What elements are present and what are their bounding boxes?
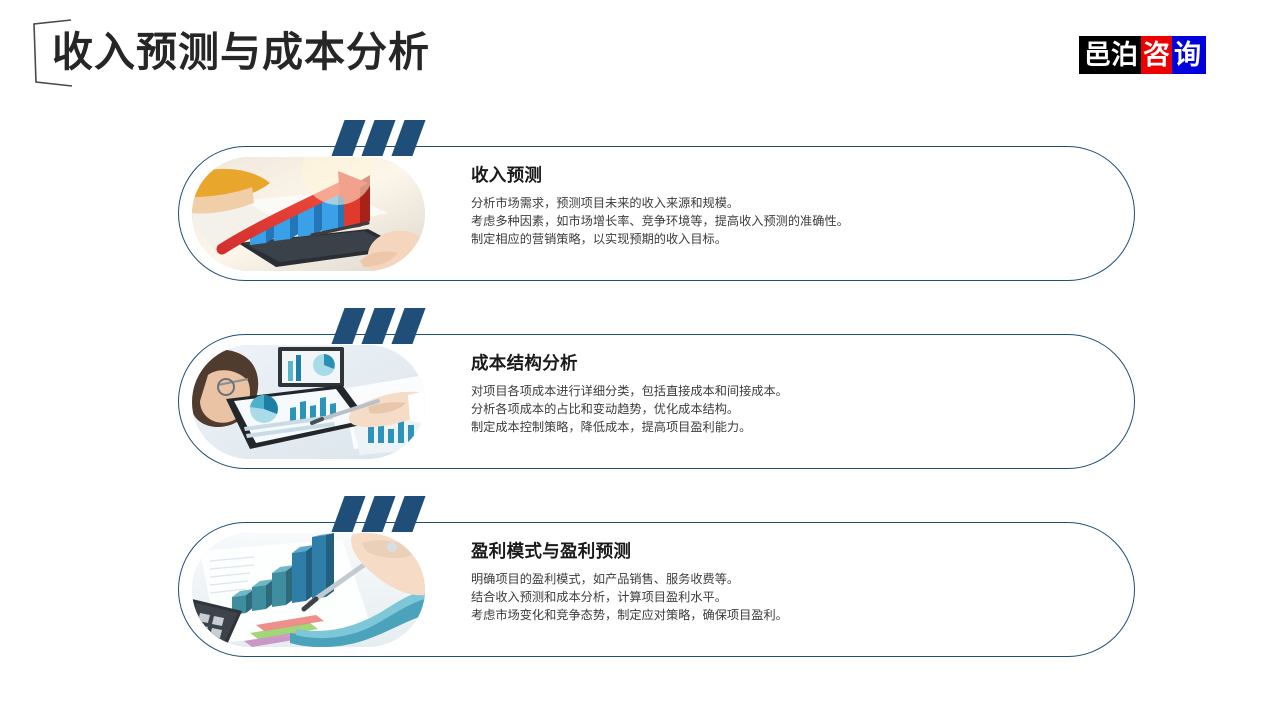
card-line: 考虑市场变化和竞争态势，制定应对策略，确保项目盈利。 [471, 607, 1094, 625]
card-photo-3 [192, 533, 425, 647]
card-heading: 盈利模式与盈利预测 [471, 543, 1094, 562]
stripe-bar [361, 120, 395, 156]
logo-segment-black: 邑泊 [1079, 36, 1141, 74]
stripe-bar [331, 120, 365, 156]
stripe-bar [391, 496, 425, 532]
stripe-bar [361, 496, 395, 532]
photo-red-arrow-bar-chart-meeting-icon [192, 157, 425, 271]
title-block: 收入预测与成本分析 [30, 14, 430, 90]
card-line: 分析市场需求，预测项目未来的收入来源和规模。 [471, 195, 1094, 213]
brand-logo: 邑泊 咨 询 [1079, 36, 1206, 74]
card-line: 分析各项成本的占比和变动趋势，优化成本结构。 [471, 401, 1094, 419]
card-line: 制定成本控制策略，降低成本，提高项目盈利能力。 [471, 419, 1094, 437]
card-line: 考虑多种因素，如市场增长率、竞争环境等，提高收入预测的准确性。 [471, 213, 1094, 231]
card-heading: 成本结构分析 [471, 355, 1094, 374]
card-line: 对项目各项成本进行详细分类，包括直接成本和间接成本。 [471, 383, 1094, 401]
stripe-bar [331, 496, 365, 532]
card-heading: 收入预测 [471, 167, 1094, 186]
stripe-bar [331, 308, 365, 344]
card-photo-1 [192, 157, 425, 271]
card-text-2: 成本结构分析 对项目各项成本进行详细分类，包括直接成本和间接成本。 分析各项成本… [471, 355, 1094, 437]
card-photo-2 [192, 345, 425, 459]
stripe-decoration-1 [336, 120, 436, 156]
slide-header: 收入预测与成本分析 邑泊 咨 询 [0, 0, 1280, 105]
stripe-decoration-3 [336, 496, 436, 532]
photo-analyst-tablet-charts-icon [192, 345, 425, 459]
card-line: 结合收入预测和成本分析，计算项目盈利水平。 [471, 589, 1094, 607]
card-line: 明确项目的盈利模式，如产品销售、服务收费等。 [471, 571, 1094, 589]
stripe-bar [391, 308, 425, 344]
logo-segment-red: 咨 [1141, 36, 1172, 74]
stripe-bar [361, 308, 395, 344]
photo-teal-bars-pen-calculator-icon [192, 533, 425, 647]
stripe-decoration-2 [336, 308, 436, 344]
content-card: 成本结构分析 对项目各项成本进行详细分类，包括直接成本和间接成本。 分析各项成本… [178, 334, 1135, 469]
content-card: 盈利模式与盈利预测 明确项目的盈利模式，如产品销售、服务收费等。 结合收入预测和… [178, 522, 1135, 657]
card-text-1: 收入预测 分析市场需求，预测项目未来的收入来源和规模。 考虑多种因素，如市场增长… [471, 167, 1094, 249]
stripe-bar [391, 120, 425, 156]
card-text-3: 盈利模式与盈利预测 明确项目的盈利模式，如产品销售、服务收费等。 结合收入预测和… [471, 543, 1094, 625]
content-card: 收入预测 分析市场需求，预测项目未来的收入来源和规模。 考虑多种因素，如市场增长… [178, 146, 1135, 281]
page-title: 收入预测与成本分析 [52, 32, 430, 73]
card-line: 制定相应的营销策略，以实现预期的收入目标。 [471, 231, 1094, 249]
logo-segment-blue: 询 [1172, 36, 1206, 74]
